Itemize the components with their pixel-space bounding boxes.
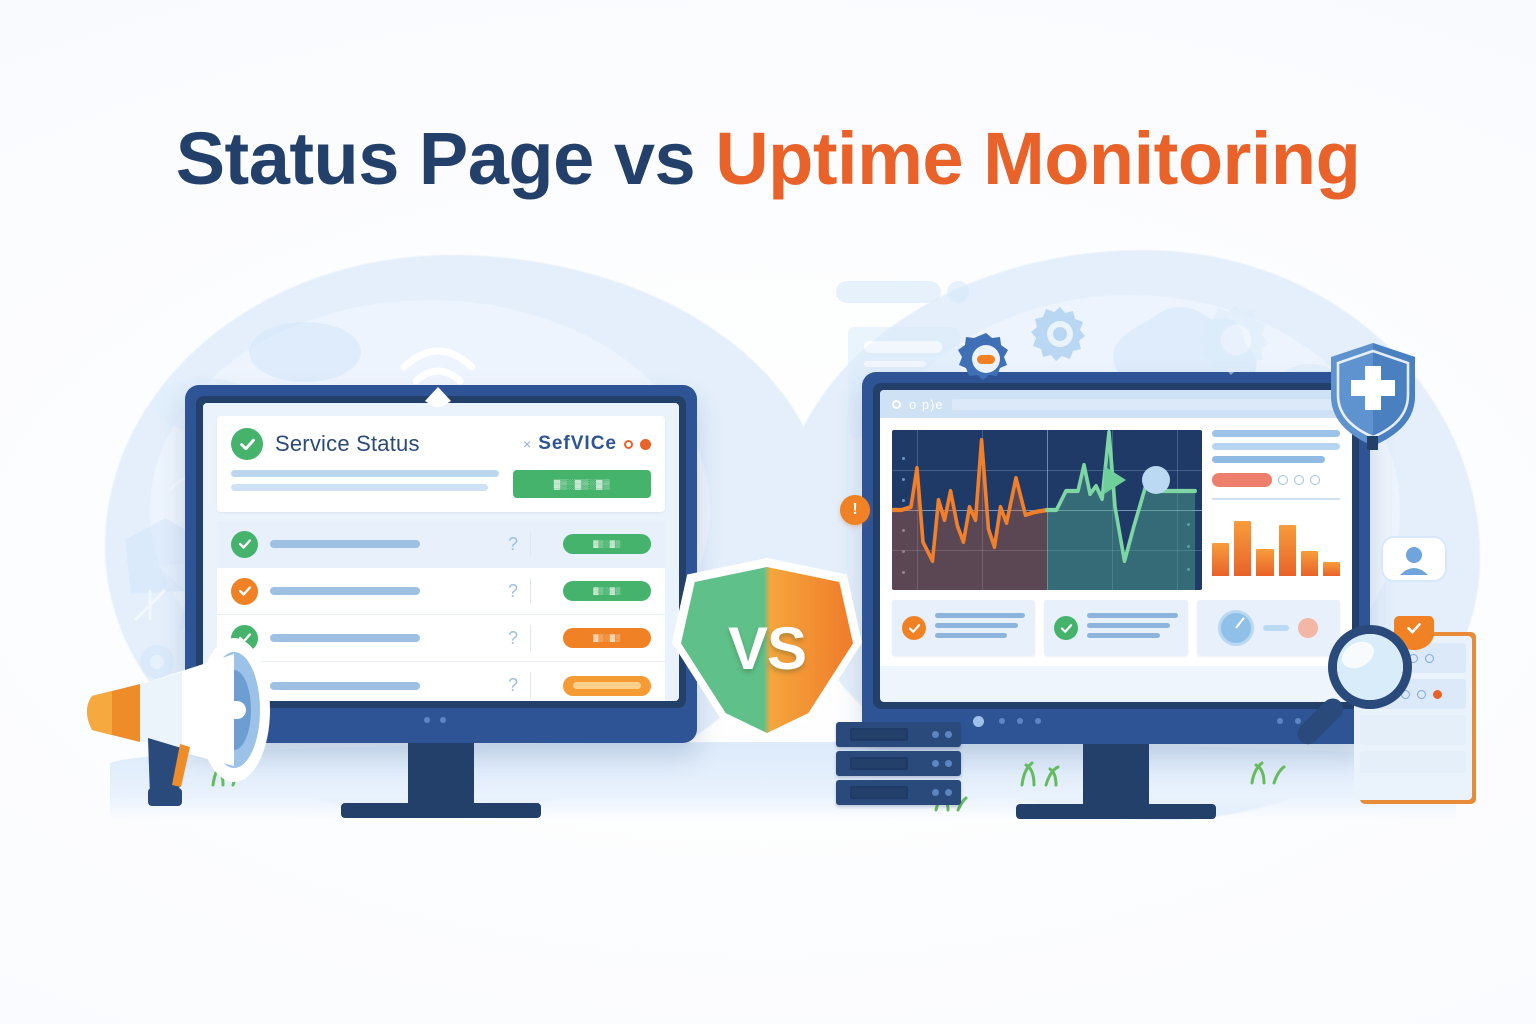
check-circle-icon bbox=[231, 531, 258, 558]
gear-icon bbox=[1196, 300, 1276, 380]
wifi-icon bbox=[392, 337, 484, 407]
circle-outline-icon bbox=[1310, 475, 1320, 485]
brand-word: SefVICe bbox=[538, 433, 617, 455]
circle-outline-icon bbox=[1278, 475, 1288, 485]
page-title: Status Page vs Uptime Monitoring bbox=[0, 120, 1536, 198]
monitor-neck bbox=[408, 743, 474, 803]
subscribe-button[interactable]: ▓▒░▓▒░▓▒ bbox=[513, 470, 651, 498]
title-part-uptime-monitoring: Uptime Monitoring bbox=[715, 117, 1360, 200]
check-circle-icon bbox=[902, 616, 926, 640]
sidebar-line bbox=[1212, 443, 1340, 450]
service-status-title: Service Status bbox=[275, 431, 420, 457]
row-marker: ? bbox=[508, 531, 531, 557]
sidebar-line bbox=[1212, 456, 1325, 463]
chart-marker-circle-icon bbox=[1142, 466, 1170, 494]
sidebar-highlight-bar bbox=[1212, 473, 1272, 487]
check-circle-icon bbox=[1054, 616, 1078, 640]
list-item[interactable] bbox=[1044, 600, 1187, 656]
vs-badge: VS bbox=[681, 567, 853, 733]
dashboard-body bbox=[880, 418, 1352, 666]
uptime-dashboard-screen[interactable]: o p)e bbox=[880, 390, 1352, 702]
monitor-base bbox=[1016, 804, 1216, 819]
server-stack-icon bbox=[836, 722, 961, 810]
illustration-canvas: ! Status Page vs Uptime Monitoring bbox=[0, 0, 1536, 1024]
table-row[interactable]: ? ▓▒░▓▒ bbox=[217, 521, 665, 568]
card-placeholder-lines bbox=[935, 613, 1025, 643]
magnifier-icon bbox=[1288, 615, 1423, 750]
dashboard-cards bbox=[892, 600, 1340, 656]
dashboard-sidebar bbox=[1212, 430, 1340, 590]
sidebar-highlight-row bbox=[1212, 473, 1340, 487]
browser-url-placeholder bbox=[952, 399, 1340, 410]
response-time-chart[interactable] bbox=[892, 430, 1202, 590]
status-badge bbox=[563, 676, 651, 696]
gear-icon bbox=[1029, 303, 1091, 365]
row-marker: ? bbox=[508, 578, 531, 604]
sidebar-bar-chart bbox=[1212, 514, 1340, 576]
sidebar-line bbox=[1212, 430, 1340, 437]
chart-series-svg bbox=[892, 430, 1202, 590]
connector-icon bbox=[1263, 625, 1289, 631]
browser-dot-icon bbox=[892, 400, 901, 409]
gauge-icon bbox=[1218, 610, 1254, 646]
browser-url-text: o p)e bbox=[909, 397, 944, 412]
row-label-placeholder bbox=[270, 587, 420, 595]
status-badge: ▓▒░▓▒ bbox=[563, 534, 651, 554]
monitor-inner-bezel: o p)e bbox=[873, 383, 1359, 709]
status-badge: ▓▒░▓▒ bbox=[563, 581, 651, 601]
vs-label: VS bbox=[681, 567, 853, 733]
row-label-placeholder bbox=[270, 540, 420, 548]
brand-ring-icon bbox=[624, 440, 633, 449]
brand-x-mark: × bbox=[523, 436, 531, 452]
play-triangle-icon bbox=[1104, 466, 1126, 494]
monitor-neck bbox=[1083, 744, 1149, 804]
alert-badge-icon: ! bbox=[840, 495, 870, 525]
grass-icon bbox=[1014, 757, 1064, 787]
monitor-base bbox=[341, 803, 541, 818]
service-status-header-card: Service Status × SefVICe ▓▒░▓▒░▓▒ bbox=[217, 416, 665, 512]
list-item[interactable] bbox=[892, 600, 1035, 656]
status-badge: ▓▒░▓▒ bbox=[563, 628, 651, 648]
browser-address-bar[interactable]: o p)e bbox=[880, 390, 1352, 418]
brand-dot-icon bbox=[640, 439, 651, 450]
row-marker: ? bbox=[508, 625, 531, 651]
user-badge-icon bbox=[1380, 533, 1448, 591]
shield-cross-icon bbox=[1327, 340, 1419, 450]
service-brand: × SefVICe bbox=[523, 433, 651, 455]
check-circle-icon bbox=[231, 428, 263, 460]
header-placeholder-lines bbox=[231, 470, 499, 498]
settings-badge-icon bbox=[957, 330, 1015, 388]
sidebar-divider bbox=[1212, 498, 1340, 500]
card-placeholder-lines bbox=[1087, 613, 1177, 643]
row-marker: ? bbox=[508, 672, 531, 699]
grass-icon bbox=[1244, 757, 1288, 785]
megaphone-icon bbox=[62, 628, 312, 813]
title-part-status-page: Status Page vs bbox=[176, 117, 716, 200]
check-circle-icon bbox=[231, 578, 258, 605]
circle-outline-icon bbox=[1294, 475, 1304, 485]
table-row[interactable]: ? ▓▒░▓▒ bbox=[217, 568, 665, 615]
